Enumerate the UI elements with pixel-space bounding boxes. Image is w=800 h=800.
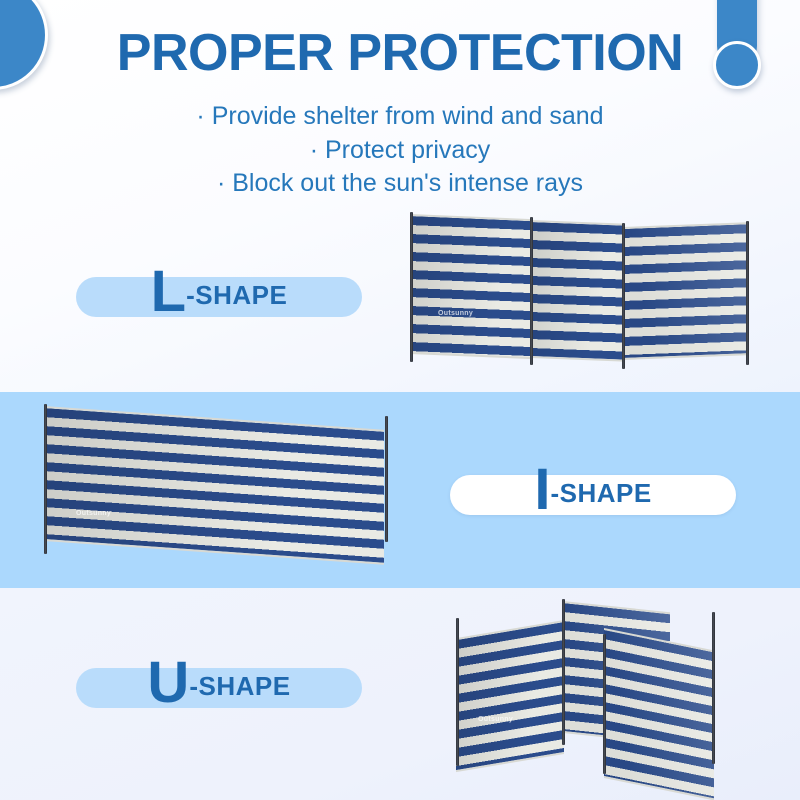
feature-bullet-list: · Provide shelter from wind and sand · P… xyxy=(0,100,800,201)
windbreak-pole xyxy=(603,634,606,774)
windbreak-panel xyxy=(531,220,624,362)
i-shape-windbreak: Outsunny xyxy=(36,398,396,570)
windbreak-panel xyxy=(44,406,384,565)
windbreak-pole xyxy=(746,221,749,365)
label-u-shape: U -SHAPE xyxy=(76,646,362,708)
feature-bullet-2: · Protect privacy xyxy=(0,134,800,168)
label-suffix-i: -SHAPE xyxy=(550,480,651,515)
windbreak-panel xyxy=(410,214,532,359)
windbreak-pole xyxy=(712,612,715,764)
windbreak-panel xyxy=(456,620,564,772)
label-letter-l: L xyxy=(151,267,186,317)
label-l-shape: L -SHAPE xyxy=(76,255,362,317)
label-suffix-u: -SHAPE xyxy=(189,673,290,708)
label-text-u-shape: U -SHAPE xyxy=(76,646,362,708)
u-shape-windbreak: Outsunny xyxy=(444,588,774,788)
label-text-i-shape: I -SHAPE xyxy=(450,453,736,515)
windbreak-pole xyxy=(562,599,565,745)
windbreak-pole xyxy=(456,618,459,766)
label-suffix-l: -SHAPE xyxy=(186,282,287,317)
page-title: PROPER PROTECTION xyxy=(0,26,800,81)
feature-bullet-3: · Block out the sun's intense rays xyxy=(0,167,800,201)
infographic-page: PROPER PROTECTION · Provide shelter from… xyxy=(0,0,800,800)
windbreak-panel xyxy=(604,628,714,800)
windbreak-panel xyxy=(623,222,747,360)
label-i-shape: I -SHAPE xyxy=(450,453,736,515)
windbreak-pole xyxy=(530,217,533,365)
windbreak-pole xyxy=(385,416,388,542)
feature-bullet-1: · Provide shelter from wind and sand xyxy=(0,100,800,134)
l-shape-windbreak: Outsunny xyxy=(400,208,760,368)
label-letter-i: I xyxy=(534,465,550,515)
label-text-l-shape: L -SHAPE xyxy=(76,255,362,317)
label-letter-u: U xyxy=(147,658,189,708)
windbreak-pole xyxy=(410,212,413,362)
windbreak-pole xyxy=(622,223,625,369)
windbreak-pole xyxy=(44,404,47,554)
